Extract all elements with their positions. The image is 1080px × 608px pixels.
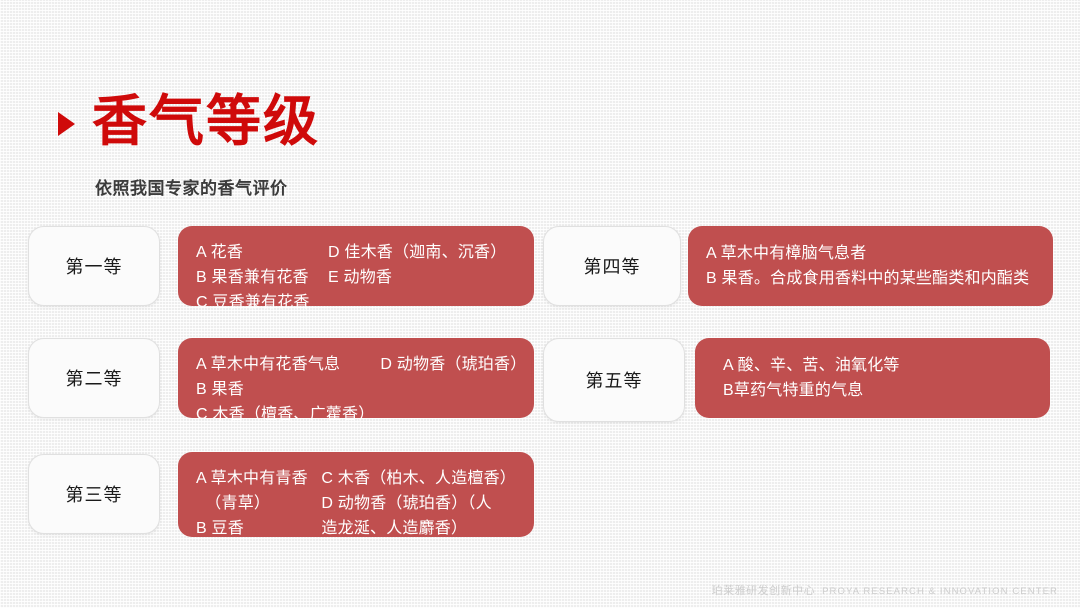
slide-canvas: 香气等级 依照我国专家的香气评价 第一等 A 花香 B 果香兼有花香 C 豆香兼… (0, 0, 1080, 608)
grade-4-column-1: A 草木中有樟脑气息者 B 果香。合成食用香料中的某些酯类和内酯类 (706, 241, 1029, 291)
grade-3-col-1-line-3: B 豆香 (196, 516, 321, 541)
grade-row-5: 第五等 A 酸、辛、苦、油氧化等 B草药气特重的气息 (543, 338, 1050, 422)
grade-grid: 第一等 A 花香 B 果香兼有花香 C 豆香兼有花香 D 佳木香（迦南、沉香） … (0, 0, 1080, 608)
footer-brand-en: PROYA RESEARCH & INNOVATION CENTER (822, 586, 1058, 597)
grade-content-2: A 草木中有花香气息 B 果香 C 木香（檀香、广藿香） D 动物香（琥珀香） (178, 338, 534, 418)
grade-3-col-1-line-2: （青草） (196, 491, 321, 516)
grade-5-col-1-line-2: B草药气特重的气息 (723, 378, 900, 403)
grade-content-5: A 酸、辛、苦、油氧化等 B草药气特重的气息 (695, 338, 1050, 418)
grade-5-column-1: A 酸、辛、苦、油氧化等 B草药气特重的气息 (723, 353, 900, 403)
grade-1-col-1-line-3: C 豆香兼有花香 (196, 290, 328, 315)
grade-row-1: 第一等 A 花香 B 果香兼有花香 C 豆香兼有花香 D 佳木香（迦南、沉香） … (28, 226, 534, 306)
grade-content-1: A 花香 B 果香兼有花香 C 豆香兼有花香 D 佳木香（迦南、沉香） E 动物… (178, 226, 534, 306)
grade-2-col-2-line-1: D 动物香（琥珀香） (380, 352, 526, 377)
grade-3-col-2-line-2: D 动物香（琥珀香）（人 (321, 491, 516, 516)
grade-label-2: 第二等 (28, 338, 160, 418)
grade-3-col-2-line-1: C 木香（柏木、人造檀香） (321, 466, 516, 491)
grade-label-4: 第四等 (543, 226, 681, 306)
grade-3-col-1-line-1: A 草木中有青香 (196, 466, 321, 491)
grade-row-2: 第二等 A 草木中有花香气息 B 果香 C 木香（檀香、广藿香） D 动物香（琥… (28, 338, 534, 418)
grade-1-col-1-line-1: A 花香 (196, 240, 328, 265)
grade-1-column-2: D 佳木香（迦南、沉香） E 动物香 (328, 240, 506, 292)
grade-3-col-2-line-3: 造龙涎、人造麝香） (321, 516, 516, 541)
grade-1-col-2-line-2: E 动物香 (328, 265, 506, 290)
grade-4-col-1-line-2: B 果香。合成食用香料中的某些酯类和内酯类 (706, 266, 1029, 291)
grade-1-column-1: A 花香 B 果香兼有花香 C 豆香兼有花香 (196, 240, 328, 292)
grade-1-col-1-line-2: B 果香兼有花香 (196, 265, 328, 290)
grade-content-4: A 草木中有樟脑气息者 B 果香。合成食用香料中的某些酯类和内酯类 (688, 226, 1053, 306)
grade-label-3: 第三等 (28, 454, 160, 534)
grade-label-1: 第一等 (28, 226, 160, 306)
grade-2-col-1-line-2: B 果香 (196, 377, 374, 402)
grade-content-3: A 草木中有青香 （青草） B 豆香 C 木香（柏木、人造檀香） D 动物香（琥… (178, 452, 534, 537)
grade-2-col-1-line-3: C 木香（檀香、广藿香） (196, 402, 374, 427)
footer-brand-cn: 珀莱雅研发创新中心 (712, 582, 816, 598)
grade-3-column-2: C 木香（柏木、人造檀香） D 动物香（琥珀香）（人 造龙涎、人造麝香） (321, 466, 516, 523)
grade-2-column-2: D 动物香（琥珀香） (380, 352, 526, 404)
grade-row-3: 第三等 A 草木中有青香 （青草） B 豆香 C 木香（柏木、人造檀香） D 动… (28, 452, 534, 537)
grade-4-col-1-line-1: A 草木中有樟脑气息者 (706, 241, 1029, 266)
grade-3-column-1: A 草木中有青香 （青草） B 豆香 (196, 466, 321, 523)
grade-label-5: 第五等 (543, 338, 685, 422)
grade-row-4: 第四等 A 草木中有樟脑气息者 B 果香。合成食用香料中的某些酯类和内酯类 (543, 226, 1053, 306)
grade-2-column-1: A 草木中有花香气息 B 果香 C 木香（檀香、广藿香） (196, 352, 374, 404)
slide-footer: 珀莱雅研发创新中心 PROYA RESEARCH & INNOVATION CE… (712, 582, 1058, 598)
grade-5-col-1-line-1: A 酸、辛、苦、油氧化等 (723, 353, 900, 378)
grade-1-col-2-line-1: D 佳木香（迦南、沉香） (328, 240, 506, 265)
grade-2-col-1-line-1: A 草木中有花香气息 (196, 352, 374, 377)
